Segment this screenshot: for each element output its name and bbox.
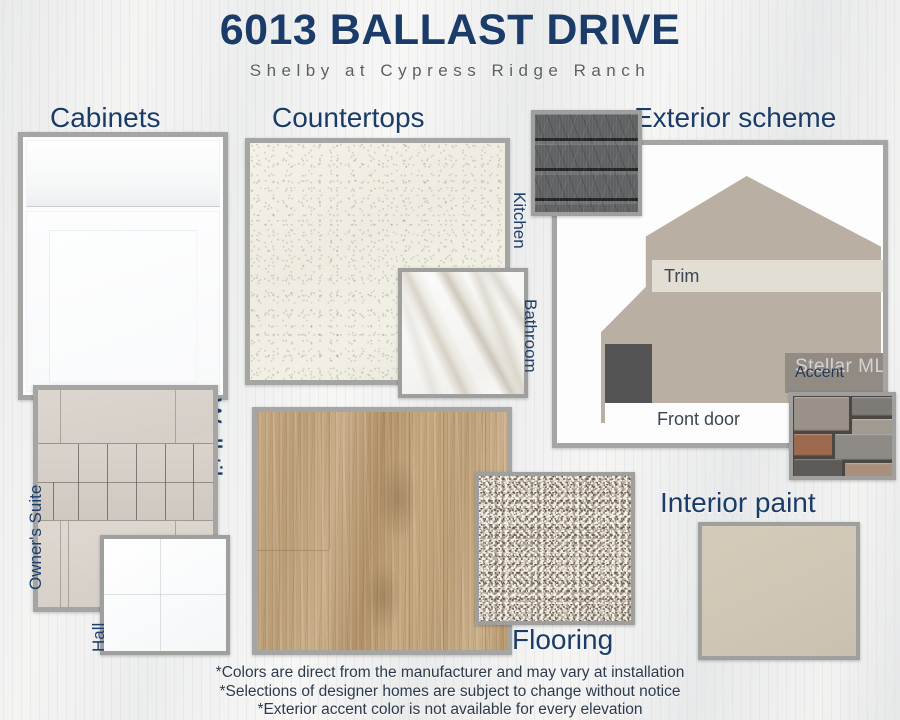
- stacked-stone-texture: [793, 396, 892, 476]
- cabinets-swatch: [18, 132, 228, 400]
- roof-shingle-swatch: [531, 110, 642, 216]
- countertop-bathroom-swatch: [398, 268, 528, 398]
- footnote-line-3: *Exterior accent color is not available …: [0, 701, 900, 720]
- cabinets-heading: Cabinets: [50, 104, 161, 132]
- countertops-heading: Countertops: [272, 104, 425, 132]
- hall-tile-texture: [104, 539, 226, 651]
- berber-carpet-texture: [479, 476, 631, 621]
- cabinet-shaker-panel: [26, 211, 220, 392]
- greige-paint-color: [702, 526, 856, 656]
- interior-paint-heading: Interior paint: [660, 489, 816, 517]
- disclaimer-footnotes: *Colors are direct from the manufacturer…: [0, 664, 900, 720]
- stone-veneer-swatch: [789, 392, 896, 480]
- footnote-line-1: *Colors are direct from the manufacturer…: [0, 664, 900, 683]
- footnote-line-2: *Selections of designer homes are subjec…: [0, 683, 900, 702]
- hall-label: Hall: [90, 623, 107, 652]
- countertop-kitchen-label: Kitchen: [511, 192, 528, 249]
- page-title: 6013 BALLAST DRIVE: [0, 8, 900, 53]
- shingle-charcoal-texture: [535, 114, 638, 212]
- wall-tile-hall-swatch: [100, 535, 230, 655]
- accent-label: Accent: [795, 364, 844, 382]
- marble-white-texture: [402, 272, 524, 394]
- cabinet-drawer-front: [26, 140, 220, 207]
- design-selection-board: 6013 BALLAST DRIVE Shelby at Cypress Rid…: [0, 0, 900, 720]
- cabinet-recessed-center: [49, 230, 197, 383]
- lvp-oak-plank-texture: [257, 412, 507, 650]
- front-door-label: Front door: [657, 409, 740, 429]
- interior-paint-swatch: [698, 522, 860, 660]
- owners-suite-label: Owner's Suite: [27, 485, 44, 590]
- exterior-scheme-heading: Exterior scheme: [634, 104, 836, 132]
- flooring-carpet-swatch: [475, 472, 635, 625]
- flooring-heading: Flooring: [512, 626, 613, 654]
- trim-label: Trim: [664, 266, 699, 286]
- cabinet-door-white: [23, 137, 223, 395]
- countertop-bathroom-label: Bathroom: [522, 299, 539, 373]
- page-subtitle: Shelby at Cypress Ridge Ranch: [0, 61, 900, 81]
- flooring-wood-swatch: [252, 407, 512, 655]
